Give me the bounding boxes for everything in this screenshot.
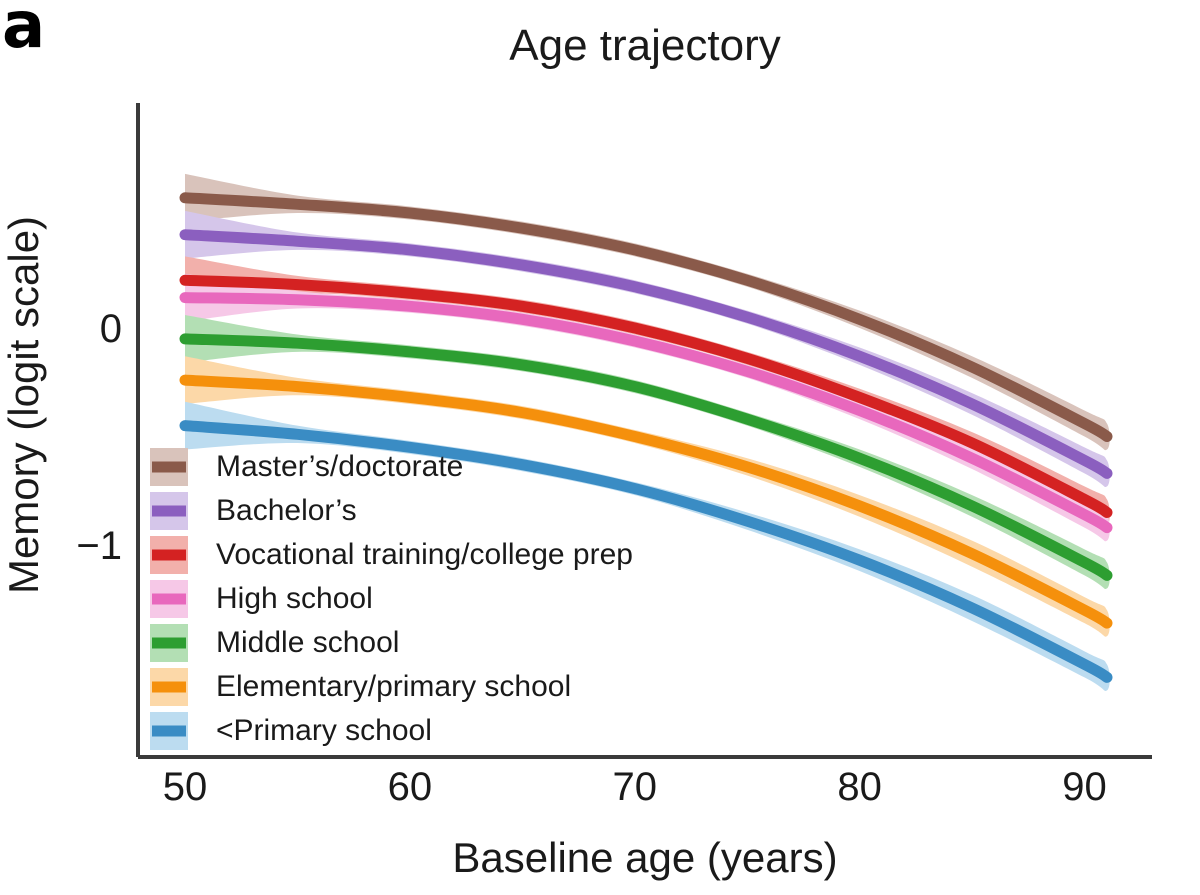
legend-swatch-line — [152, 638, 186, 649]
legend-swatch-line — [152, 682, 186, 693]
legend-item[interactable]: Bachelor’s — [150, 492, 357, 530]
y-tick-label: −1 — [76, 524, 122, 568]
legend-swatch-line — [152, 726, 186, 737]
legend-swatch-line — [152, 594, 186, 605]
legend-label: <Primary school — [216, 714, 432, 747]
legend-swatch-line — [152, 550, 186, 561]
legend-label: Middle school — [216, 626, 399, 659]
x-tick-label: 90 — [1062, 765, 1107, 809]
chart-title: Age trajectory — [509, 21, 780, 70]
legend-label: Vocational training/college prep — [216, 538, 633, 571]
legend-swatch-line — [152, 506, 186, 517]
x-tick-label: 80 — [837, 765, 882, 809]
chart-legend[interactable]: Master’s/doctorateBachelor’sVocational t… — [150, 448, 633, 750]
legend-swatch-line — [152, 462, 186, 473]
y-axis-title: Memory (logit scale) — [0, 216, 47, 594]
legend-label: Bachelor’s — [216, 494, 357, 527]
y-tick-label: 0 — [100, 307, 122, 351]
age-trajectory-chart: Age trajectory 5060708090 0−1 Baseline a… — [0, 0, 1200, 895]
legend-item[interactable]: Middle school — [150, 624, 399, 662]
figure-panel-a: a Age trajectory 5060708090 0−1 Baseline… — [0, 0, 1200, 895]
x-tick-label: 50 — [163, 765, 208, 809]
legend-item[interactable]: <Primary school — [150, 712, 432, 750]
legend-item[interactable]: High school — [150, 580, 373, 618]
x-axis-title: Baseline age (years) — [452, 834, 837, 881]
y-axis-tick-labels: 0−1 — [76, 307, 122, 568]
x-axis-tick-labels: 5060708090 — [163, 765, 1107, 809]
legend-item[interactable]: Master’s/doctorate — [150, 448, 463, 486]
legend-item[interactable]: Elementary/primary school — [150, 668, 571, 706]
legend-label: Elementary/primary school — [216, 670, 571, 703]
x-tick-label: 70 — [613, 765, 658, 809]
legend-item[interactable]: Vocational training/college prep — [150, 536, 633, 574]
x-tick-label: 60 — [388, 765, 433, 809]
legend-label: High school — [216, 582, 373, 615]
legend-label: Master’s/doctorate — [216, 450, 463, 483]
